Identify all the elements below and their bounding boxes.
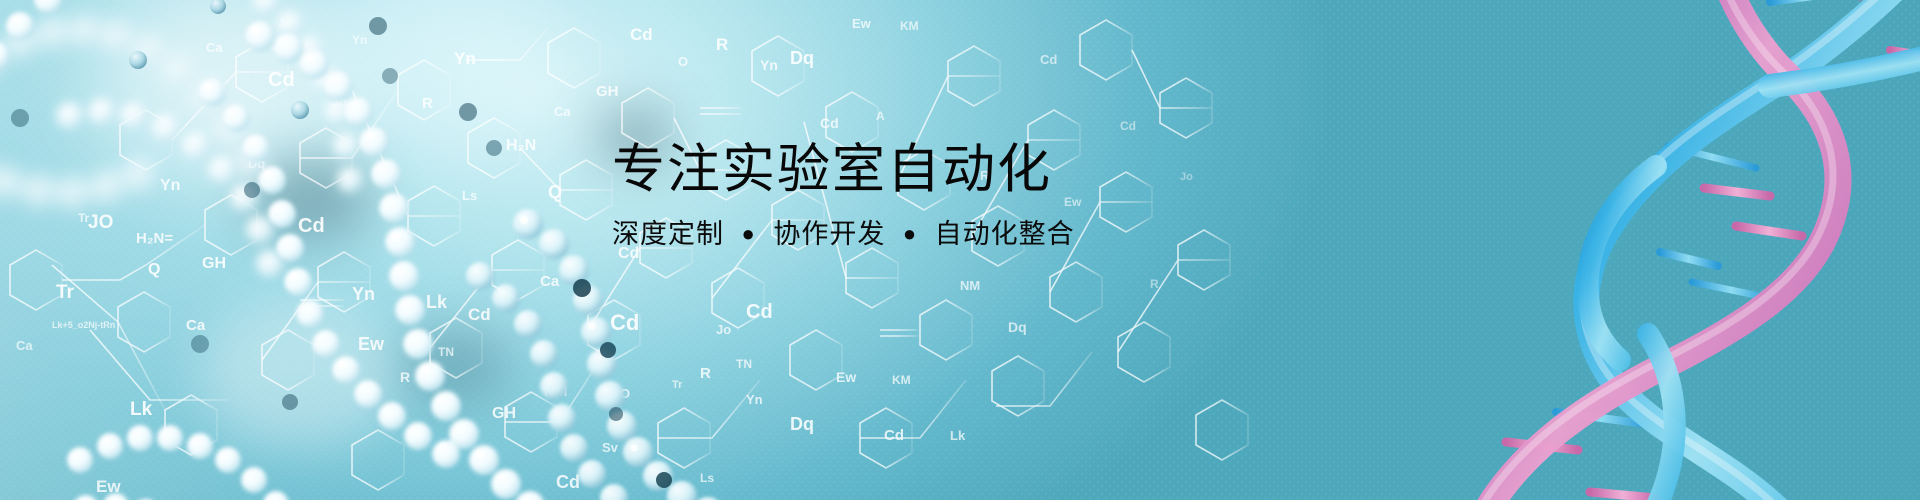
hero-subtitle: 深度定制 ● 协作开发 ● 自动化整合 <box>612 216 1172 252</box>
svg-text:A: A <box>876 109 885 123</box>
subtitle-item-1: 深度定制 <box>612 219 724 249</box>
subtitle-item-3: 自动化整合 <box>935 219 1075 249</box>
svg-text:Cd: Cd <box>1120 119 1136 133</box>
dna-double-helix <box>1470 0 1920 500</box>
svg-text:Cd: Cd <box>1040 52 1057 67</box>
svg-text:NM: NM <box>960 278 980 293</box>
svg-text:Lk: Lk <box>950 428 966 443</box>
svg-text:Ew: Ew <box>852 16 872 31</box>
svg-text:R: R <box>1150 277 1159 291</box>
svg-text:Cd: Cd <box>820 115 839 131</box>
bullet-separator-icon: ● <box>894 216 926 252</box>
svg-text:KM: KM <box>892 373 911 387</box>
svg-text:Dq: Dq <box>790 48 814 68</box>
svg-text:KM: KM <box>900 19 919 33</box>
svg-text:Cd: Cd <box>884 427 904 444</box>
page-title: 专注实验室自动化 <box>612 138 1172 202</box>
subtitle-item-2: 协作开发 <box>773 219 885 249</box>
bullet-separator-icon: ● <box>733 216 765 252</box>
svg-text:Dq: Dq <box>1008 319 1027 335</box>
hero-copy: 专注实验室自动化 深度定制 ● 协作开发 ● 自动化整合 <box>612 138 1172 252</box>
svg-text:Yn: Yn <box>760 57 778 73</box>
hero-banner: Tr Lk JO Tr Lk+5_o2Nj-tRn H₂N= Q GH Ca Y… <box>0 0 1920 500</box>
svg-text:Jo: Jo <box>1180 171 1193 183</box>
